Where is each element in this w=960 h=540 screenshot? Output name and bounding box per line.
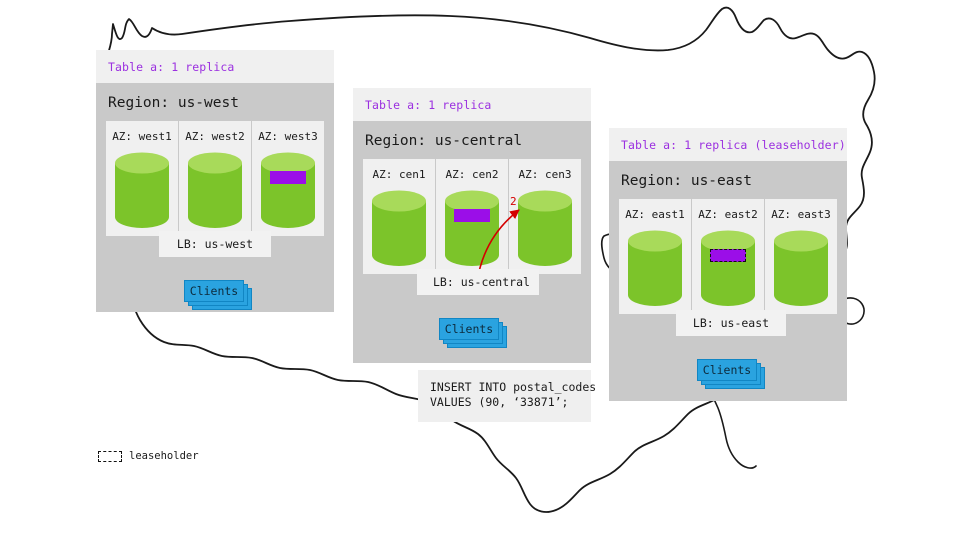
node-cylinder-cen3[interactable] (517, 190, 573, 266)
az-label-cen1: AZ: cen1 (373, 168, 426, 181)
az-row-us-east: AZ: east1 AZ: east2 (619, 199, 837, 314)
node-cylinder-east2[interactable] (700, 230, 756, 306)
clients-label-us-east: Clients (703, 363, 751, 377)
clients-stack-us-east[interactable]: Clients (697, 359, 767, 391)
clients-button-us-east[interactable]: Clients (697, 359, 757, 381)
clients-button-us-west[interactable]: Clients (184, 280, 244, 302)
region-panel-us-east: Table a: 1 replica (leaseholder) Region:… (609, 128, 847, 401)
az-row-us-central: AZ: cen1 AZ: cen2 (363, 159, 581, 274)
region-title-us-central: Region: us-central (363, 121, 581, 159)
az-cell-east2[interactable]: AZ: east2 (692, 199, 765, 314)
node-cylinder-east1[interactable] (627, 230, 683, 306)
az-cell-east3[interactable]: AZ: east3 (765, 199, 837, 314)
az-label-east2: AZ: east2 (698, 208, 758, 221)
region-title-us-east: Region: us-east (619, 161, 837, 199)
az-label-cen2: AZ: cen2 (446, 168, 499, 181)
node-cylinder-west2[interactable] (187, 152, 243, 228)
leaseholder-swatch-icon (98, 451, 122, 462)
arrow-step-label-2: 2 (510, 195, 517, 208)
load-balancer-us-east[interactable]: LB: us-east (676, 310, 786, 336)
az-cell-cen3[interactable]: AZ: cen3 (509, 159, 581, 274)
region-panel-us-west: Table a: 1 replica Region: us-west AZ: w… (96, 50, 334, 312)
leaseholder-replica-block-east2 (710, 249, 746, 262)
clients-button-us-central[interactable]: Clients (439, 318, 499, 340)
legend-leaseholder: leaseholder (98, 450, 199, 462)
replica-block-cen2 (454, 209, 490, 222)
node-cylinder-west1[interactable] (114, 152, 170, 228)
node-cylinder-east3[interactable] (773, 230, 829, 306)
sql-statement-box: INSERT INTO postal_codes VALUES (90, ‘33… (418, 370, 591, 422)
region-title-us-west: Region: us-west (106, 83, 324, 121)
clients-label-us-west: Clients (190, 284, 238, 298)
az-label-west3: AZ: west3 (258, 130, 318, 143)
clients-stack-us-central[interactable]: Clients (439, 318, 509, 350)
az-label-east3: AZ: east3 (771, 208, 831, 221)
load-balancer-us-west[interactable]: LB: us-west (159, 231, 271, 257)
clients-stack-us-west[interactable]: Clients (184, 280, 254, 312)
node-cylinder-west3[interactable] (260, 152, 316, 228)
replica-block-west3 (270, 171, 306, 184)
table-replica-label-us-west: Table a: 1 replica (96, 50, 334, 83)
node-cylinder-cen1[interactable] (371, 190, 427, 266)
az-cell-east1[interactable]: AZ: east1 (619, 199, 692, 314)
node-cylinder-cen2[interactable] (444, 190, 500, 266)
legend-label: leaseholder (129, 450, 199, 462)
region-panel-us-central: Table a: 1 replica Region: us-central AZ… (353, 88, 591, 363)
az-cell-cen1[interactable]: AZ: cen1 (363, 159, 436, 274)
table-replica-label-us-central: Table a: 1 replica (353, 88, 591, 121)
diagram-canvas: Table a: 1 replica Region: us-west AZ: w… (0, 0, 960, 540)
az-label-west1: AZ: west1 (112, 130, 172, 143)
az-label-west2: AZ: west2 (185, 130, 245, 143)
load-balancer-us-central[interactable]: LB: us-central (417, 269, 539, 295)
az-label-east1: AZ: east1 (625, 208, 685, 221)
az-row-us-west: AZ: west1 AZ: west2 (106, 121, 324, 236)
az-cell-west3[interactable]: AZ: west3 (252, 121, 324, 236)
az-cell-cen2[interactable]: AZ: cen2 (436, 159, 509, 274)
table-replica-label-us-east: Table a: 1 replica (leaseholder) (609, 128, 847, 161)
az-label-cen3: AZ: cen3 (519, 168, 572, 181)
az-cell-west1[interactable]: AZ: west1 (106, 121, 179, 236)
region-body-us-west: Region: us-west AZ: west1 AZ: west2 (96, 83, 334, 312)
clients-label-us-central: Clients (445, 322, 493, 336)
az-cell-west2[interactable]: AZ: west2 (179, 121, 252, 236)
